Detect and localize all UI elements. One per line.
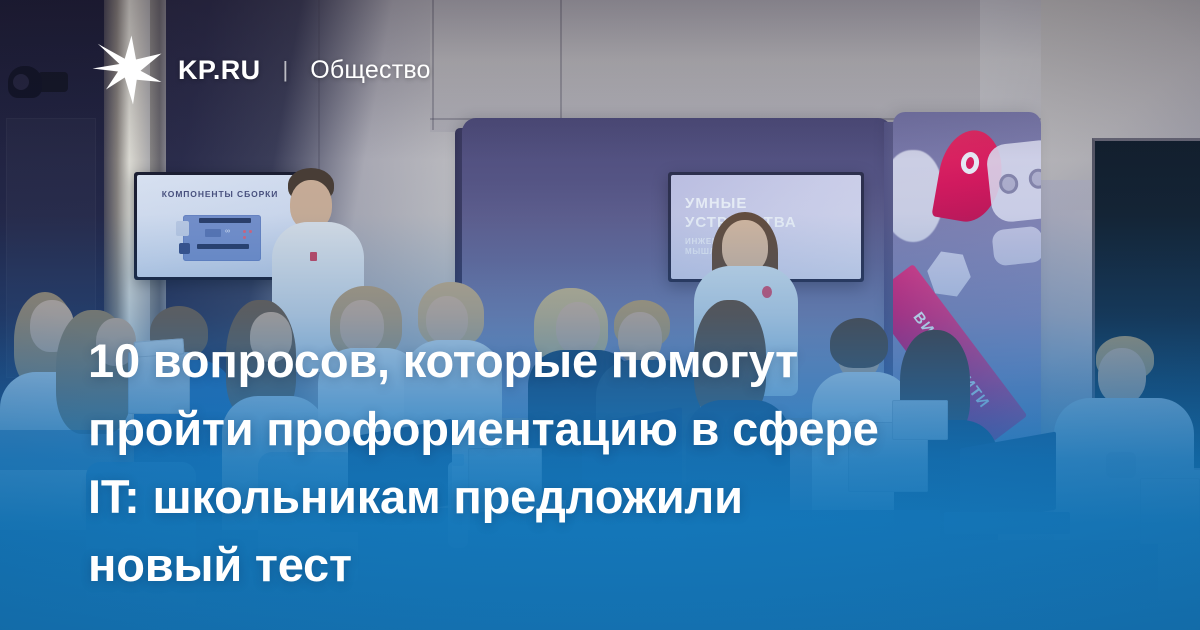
brand-header: KP.RU | Общество [88, 34, 431, 106]
headline-line-3: IT: школьникам предложили [88, 463, 1078, 531]
headline-line-1: 10 вопросов, которые помогут [88, 327, 1078, 395]
headline-line-4: новый тест [88, 531, 1078, 599]
article-headline: 10 вопросов, которые помогут пройти проф… [88, 327, 1078, 599]
brand-name[interactable]: KP.RU [178, 55, 261, 86]
rubric-label[interactable]: Общество [310, 56, 430, 85]
article-share-card: КОМПОНЕНТЫ СБОРКИ ∞ УМНЫЕ [0, 0, 1200, 630]
headline-line-2: пройти профориентацию в сфере [88, 395, 1078, 463]
swallow-bird-icon [88, 34, 166, 106]
brand-separator: | [283, 57, 289, 83]
